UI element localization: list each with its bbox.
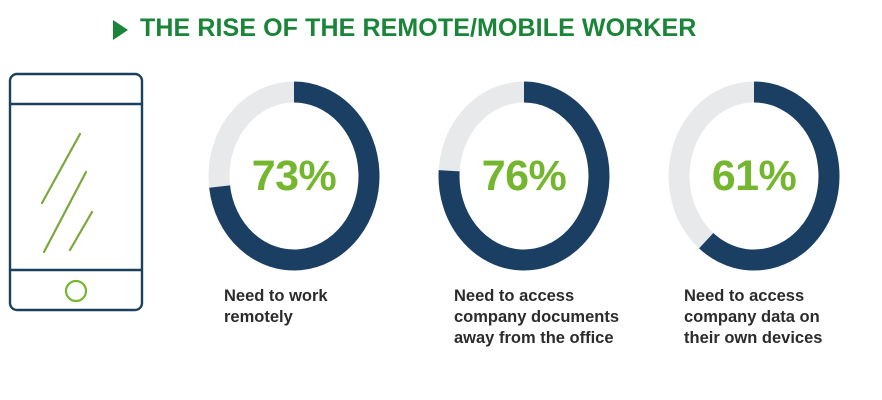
stat-caption-3: Need to access company data on their own… <box>684 286 882 349</box>
donut-value-2: 76% <box>436 80 612 272</box>
stat-caption-1: Need to work remotely <box>224 286 422 328</box>
mobile-phone-illustration <box>8 72 148 317</box>
caption-line: away from the office <box>454 328 652 349</box>
stat-item: 73% Need to work remotely <box>192 80 422 349</box>
caption-line: company data on <box>684 307 882 328</box>
caption-line: company documents <box>454 307 652 328</box>
donut-chart-2: 76% <box>436 80 612 272</box>
caption-line: remotely <box>224 307 422 328</box>
caption-line: Need to access <box>454 286 652 307</box>
donut-chart-3: 61% <box>666 80 842 272</box>
donut-chart-1: 73% <box>206 80 382 272</box>
donut-value-1: 73% <box>206 80 382 272</box>
caption-line: Need to work <box>224 286 422 307</box>
stat-item: 76% Need to access company documents awa… <box>422 80 652 349</box>
page-title: THE RISE OF THE REMOTE/MOBILE WORKER <box>140 14 696 43</box>
stats-row: 73% Need to work remotely 76% Need to ac… <box>192 80 882 349</box>
mobile-phone-icon <box>8 72 148 312</box>
caption-line: Need to access <box>684 286 882 307</box>
caption-line: their own devices <box>684 328 882 349</box>
donut-value-3: 61% <box>666 80 842 272</box>
stat-caption-2: Need to access company documents away fr… <box>454 286 652 349</box>
play-triangle-icon <box>113 20 128 40</box>
stat-item: 61% Need to access company data on their… <box>652 80 882 349</box>
page-title-bar: THE RISE OF THE REMOTE/MOBILE WORKER <box>113 14 696 43</box>
